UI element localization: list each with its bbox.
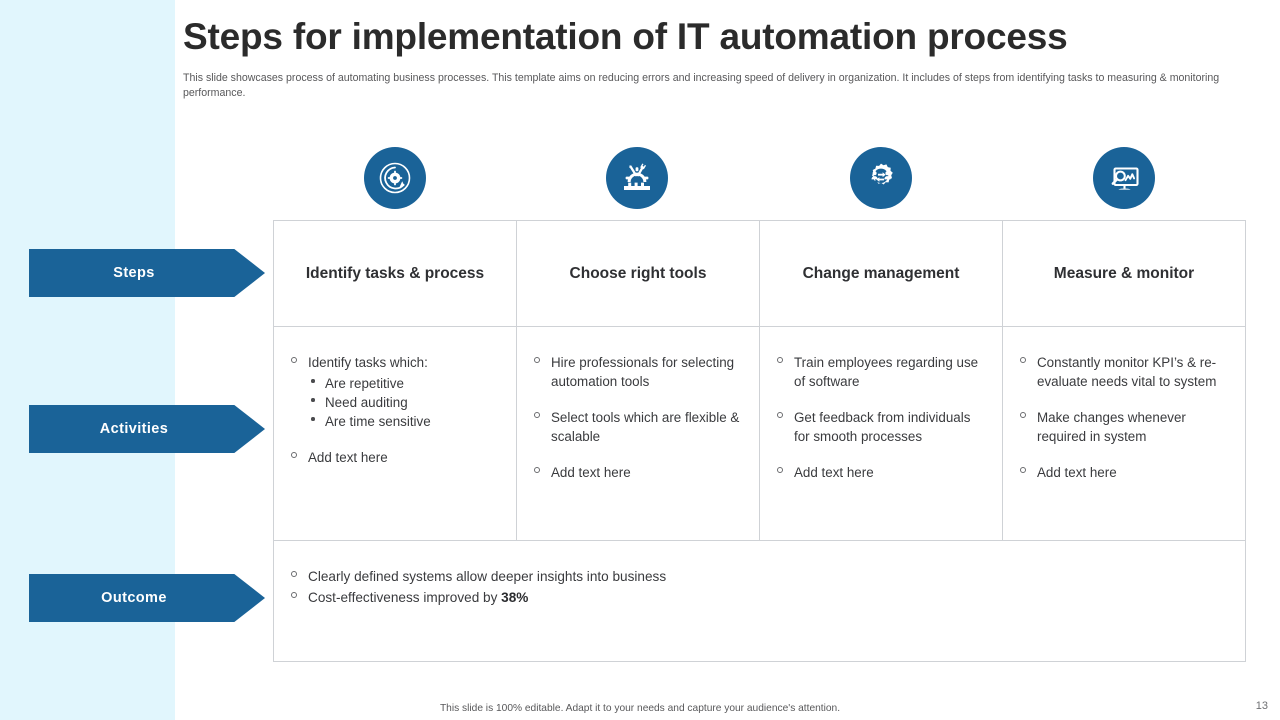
- activities-column-0: Identify tasks which: Are repetitive Nee…: [274, 327, 517, 540]
- activities-cell: Constantly monitor KPI’s & re-evaluate n…: [1003, 327, 1245, 540]
- row-label-activities-text: Activities: [100, 421, 168, 437]
- outcome-list: Clearly defined systems allow deeper ins…: [290, 567, 1231, 608]
- sub-list-item-text: Need auditing: [325, 395, 408, 410]
- bullet-circle-icon: [534, 357, 540, 363]
- target-gear-refresh-icon: [364, 147, 426, 209]
- table-column-0: Identify tasks & process: [274, 221, 517, 326]
- list-item: Get feedback from individuals for smooth…: [776, 408, 988, 446]
- list-item: Cost-effectiveness improved by 38%: [290, 588, 1231, 607]
- row-label-activities[interactable]: Activities: [29, 405, 265, 453]
- bullet-circle-icon: [777, 357, 783, 363]
- bullet-circle-icon: [291, 452, 297, 458]
- activities-list: Constantly monitor KPI’s & re-evaluate n…: [1019, 353, 1231, 482]
- outcome-item-text: Clearly defined systems allow deeper ins…: [308, 569, 666, 584]
- list-item-text: Add text here: [308, 450, 388, 465]
- row-label-steps[interactable]: Steps: [29, 249, 265, 297]
- outcome-item-text: Cost-effectiveness improved by: [308, 590, 501, 605]
- steps-table: Identify tasks & process Choose right to…: [273, 220, 1246, 662]
- list-item: Train employees regarding use of softwar…: [776, 353, 988, 391]
- sub-list-item: Are repetitive: [308, 374, 502, 393]
- list-item: Select tools which are flexible & scalab…: [533, 408, 745, 446]
- column-header: Identify tasks & process: [274, 221, 516, 326]
- icon-row: [273, 147, 1246, 209]
- activities-list: Identify tasks which: Are repetitive Nee…: [290, 353, 502, 467]
- table-column-1: Choose right tools: [517, 221, 760, 326]
- sub-list-item: Need auditing: [308, 393, 502, 412]
- outcome-item-highlight: 38%: [501, 590, 528, 605]
- list-item-text: Get feedback from individuals for smooth…: [794, 410, 970, 444]
- list-item: Add text here: [776, 463, 988, 482]
- list-item: Add text here: [533, 463, 745, 482]
- table-column-2: Change management: [760, 221, 1003, 326]
- column-header: Measure & monitor: [1003, 221, 1245, 326]
- table-outcome-row: Clearly defined systems allow deeper ins…: [274, 541, 1245, 661]
- bullet-circle-icon: [1020, 467, 1026, 473]
- footer-note: This slide is 100% editable. Adapt it to…: [0, 703, 1280, 714]
- activities-cell: Identify tasks which: Are repetitive Nee…: [274, 327, 516, 540]
- bullet-circle-icon: [534, 412, 540, 418]
- table-column-3: Measure & monitor: [1003, 221, 1245, 326]
- bullet-dot-icon: [311, 417, 315, 421]
- activities-list: Hire professionals for selecting automat…: [533, 353, 745, 482]
- column-header: Change management: [760, 221, 1002, 326]
- column-header: Choose right tools: [517, 221, 759, 326]
- activities-cell: Train employees regarding use of softwar…: [760, 327, 1002, 540]
- list-item: Add text here: [1019, 463, 1231, 482]
- page-subtitle: This slide showcases process of automati…: [183, 71, 1231, 101]
- gear-tools-icon: [606, 147, 668, 209]
- table-activities-row: Identify tasks which: Are repetitive Nee…: [274, 327, 1245, 541]
- bullet-circle-icon: [777, 412, 783, 418]
- list-item-text: Train employees regarding use of softwar…: [794, 355, 978, 389]
- list-item-text: Select tools which are flexible & scalab…: [551, 410, 739, 444]
- table-header-row: Identify tasks & process Choose right to…: [274, 221, 1245, 327]
- row-label-steps-text: Steps: [113, 265, 155, 281]
- bullet-dot-icon: [311, 398, 315, 402]
- gear-people-exchange-icon: [850, 147, 912, 209]
- list-item-text: Hire professionals for selecting automat…: [551, 355, 734, 389]
- list-item-text: Identify tasks which:: [308, 355, 428, 370]
- bullet-circle-icon: [534, 467, 540, 473]
- list-item-text: Constantly monitor KPI’s & re-evaluate n…: [1037, 355, 1216, 389]
- activities-column-3: Constantly monitor KPI’s & re-evaluate n…: [1003, 327, 1245, 540]
- list-item: Add text here: [290, 448, 502, 467]
- bullet-circle-icon: [1020, 357, 1026, 363]
- activities-column-1: Hire professionals for selecting automat…: [517, 327, 760, 540]
- bullet-circle-icon: [1020, 412, 1026, 418]
- page-title: Steps for implementation of IT automatio…: [183, 16, 1263, 57]
- sub-list: Are repetitive Need auditing Are time se…: [308, 374, 502, 431]
- list-item: Make changes whenever required in system: [1019, 408, 1231, 446]
- row-label-outcome-text: Outcome: [101, 590, 167, 606]
- bullet-circle-icon: [777, 467, 783, 473]
- list-item-text: Make changes whenever required in system: [1037, 410, 1186, 444]
- bullet-dot-icon: [311, 379, 315, 383]
- bullet-circle-icon: [291, 592, 297, 598]
- activities-list: Train employees regarding use of softwar…: [776, 353, 988, 482]
- list-item: Identify tasks which: Are repetitive Nee…: [290, 353, 502, 431]
- bullet-circle-icon: [291, 357, 297, 363]
- list-item: Constantly monitor KPI’s & re-evaluate n…: [1019, 353, 1231, 391]
- activities-cell: Hire professionals for selecting automat…: [517, 327, 759, 540]
- list-item: Hire professionals for selecting automat…: [533, 353, 745, 391]
- list-item-text: Add text here: [794, 465, 874, 480]
- slide-root: Steps for implementation of IT automatio…: [0, 0, 1280, 720]
- sub-list-item-text: Are repetitive: [325, 376, 404, 391]
- outcome-cell: Clearly defined systems allow deeper ins…: [274, 541, 1245, 608]
- list-item-text: Add text here: [551, 465, 631, 480]
- row-label-outcome[interactable]: Outcome: [29, 574, 265, 622]
- activities-column-2: Train employees regarding use of softwar…: [760, 327, 1003, 540]
- list-item-text: Add text here: [1037, 465, 1117, 480]
- sub-list-item-text: Are time sensitive: [325, 414, 431, 429]
- sub-list-item: Are time sensitive: [308, 412, 502, 431]
- monitor-analytics-search-icon: [1093, 147, 1155, 209]
- list-item: Clearly defined systems allow deeper ins…: [290, 567, 1231, 586]
- bullet-circle-icon: [291, 571, 297, 577]
- page-number: 13: [1256, 700, 1268, 712]
